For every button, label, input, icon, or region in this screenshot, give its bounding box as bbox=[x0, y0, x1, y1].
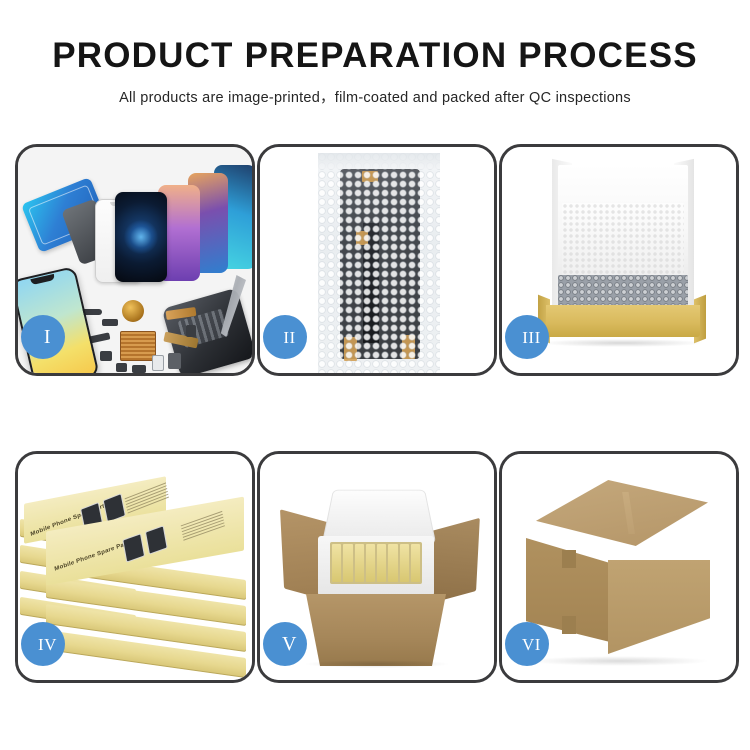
part-icon bbox=[100, 351, 112, 361]
product-preparation-infographic: PRODUCT PREPARATION PROCESS All products… bbox=[0, 0, 750, 750]
foam-cooler bbox=[314, 484, 438, 594]
box-text-lines bbox=[181, 511, 225, 543]
bubble-wrap-bag bbox=[318, 153, 440, 373]
process-step-grid: I II bbox=[15, 144, 737, 683]
packed-box bbox=[332, 544, 341, 582]
packed-box bbox=[343, 544, 352, 582]
packed-box bbox=[366, 544, 375, 582]
spare-parts-cluster bbox=[78, 307, 208, 373]
foam-sheet-icon bbox=[562, 203, 684, 279]
part-icon bbox=[152, 355, 164, 371]
box-label-text: Mobile Phone Spare Parts bbox=[54, 540, 133, 573]
box-artwork-thumbnails bbox=[122, 525, 168, 562]
phone-screen-dark-icon bbox=[115, 192, 167, 282]
drop-shadow bbox=[528, 656, 710, 666]
header: PRODUCT PREPARATION PROCESS All products… bbox=[0, 0, 750, 107]
part-icon bbox=[132, 365, 146, 373]
foam-cooler-body bbox=[318, 536, 434, 596]
chip-part-icon bbox=[120, 331, 156, 361]
carton-top bbox=[536, 480, 708, 546]
process-step-panel-2: II bbox=[257, 144, 497, 376]
packed-box bbox=[400, 544, 409, 582]
speaker-part-icon bbox=[122, 300, 144, 322]
page-subtitle: All products are image-printed，film-coat… bbox=[0, 86, 750, 107]
carton-body bbox=[306, 594, 446, 666]
carton-face-right bbox=[608, 560, 710, 654]
step-badge-1: I bbox=[21, 315, 65, 359]
flex-cable-icon bbox=[166, 307, 197, 320]
packed-box bbox=[388, 544, 397, 582]
packed-boxes-row bbox=[330, 542, 422, 584]
drop-shadow bbox=[542, 339, 702, 347]
process-step-panel-1: I bbox=[15, 144, 255, 376]
drop-shadow bbox=[306, 660, 448, 668]
process-step-panel-4: Mobile Phone Spare Parts bbox=[15, 451, 255, 683]
process-step-panel-3: III bbox=[499, 144, 739, 376]
part-icon bbox=[116, 363, 127, 372]
page-title: PRODUCT PREPARATION PROCESS bbox=[0, 38, 750, 75]
bubble-texture bbox=[318, 153, 440, 373]
box-front-panel bbox=[546, 305, 700, 337]
part-icon bbox=[186, 325, 196, 337]
carton-tab bbox=[562, 550, 576, 568]
process-step-panel-5: V bbox=[257, 451, 497, 683]
step-badge-3: III bbox=[505, 315, 549, 359]
carton-tab bbox=[562, 616, 576, 634]
step-badge-2: II bbox=[263, 315, 307, 359]
packed-box bbox=[377, 544, 386, 582]
phone-thumbnail-icon bbox=[122, 533, 145, 562]
part-icon bbox=[102, 319, 118, 326]
step-badge-4: IV bbox=[21, 622, 65, 666]
packed-box bbox=[355, 544, 364, 582]
step-badge-5: V bbox=[263, 622, 307, 666]
part-icon bbox=[168, 353, 181, 369]
phone-thumbnail-icon bbox=[145, 525, 168, 554]
packed-box bbox=[411, 544, 420, 582]
bag-seal bbox=[318, 153, 440, 169]
process-step-panel-6: VI bbox=[499, 451, 739, 683]
gray-bubble-layer-icon bbox=[558, 275, 688, 307]
step-badge-6: VI bbox=[505, 622, 549, 666]
